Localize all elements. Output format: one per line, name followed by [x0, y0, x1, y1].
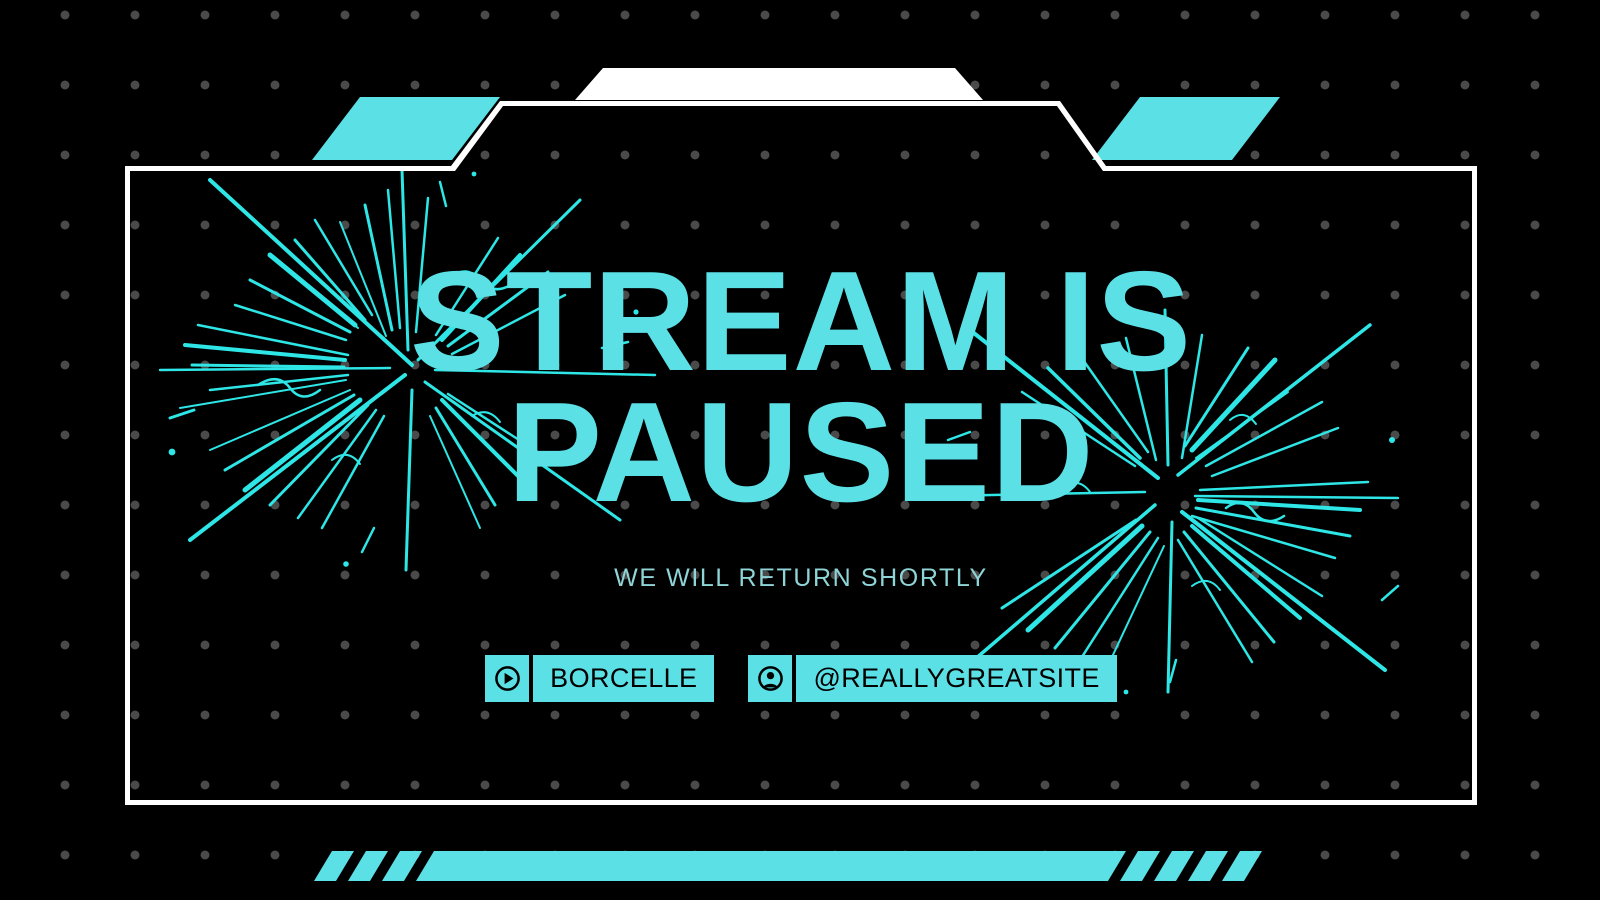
- title-line-1: STREAM IS: [125, 260, 1477, 385]
- social-badge-row: BORCELLE @REALLYGREATSITE: [485, 655, 1117, 702]
- subtitle-text: WE WILL RETURN SHORTLY: [614, 564, 988, 593]
- right-parallelogram-shape: [1092, 97, 1280, 160]
- person-circle-icon: [748, 655, 792, 702]
- bottom-stripe-bar: [296, 851, 1264, 881]
- badge-handle-label: @REALLYGREATSITE: [796, 655, 1116, 702]
- top-tab-shape: [575, 68, 983, 100]
- badge-borcelle[interactable]: BORCELLE: [485, 655, 714, 702]
- page-title: STREAM IS PAUSED: [125, 260, 1477, 516]
- title-line-2: PAUSED: [125, 391, 1477, 516]
- left-parallelogram-shape: [312, 97, 500, 160]
- overlay-stage: STREAM IS PAUSED WE WILL RETURN SHORTLY …: [0, 0, 1600, 900]
- play-circle-icon: [485, 655, 529, 702]
- overlay-content: STREAM IS PAUSED WE WILL RETURN SHORTLY …: [125, 168, 1477, 805]
- badge-borcelle-label: BORCELLE: [533, 655, 714, 702]
- frame-top-rail: [125, 101, 1477, 171]
- badge-handle[interactable]: @REALLYGREATSITE: [748, 655, 1116, 702]
